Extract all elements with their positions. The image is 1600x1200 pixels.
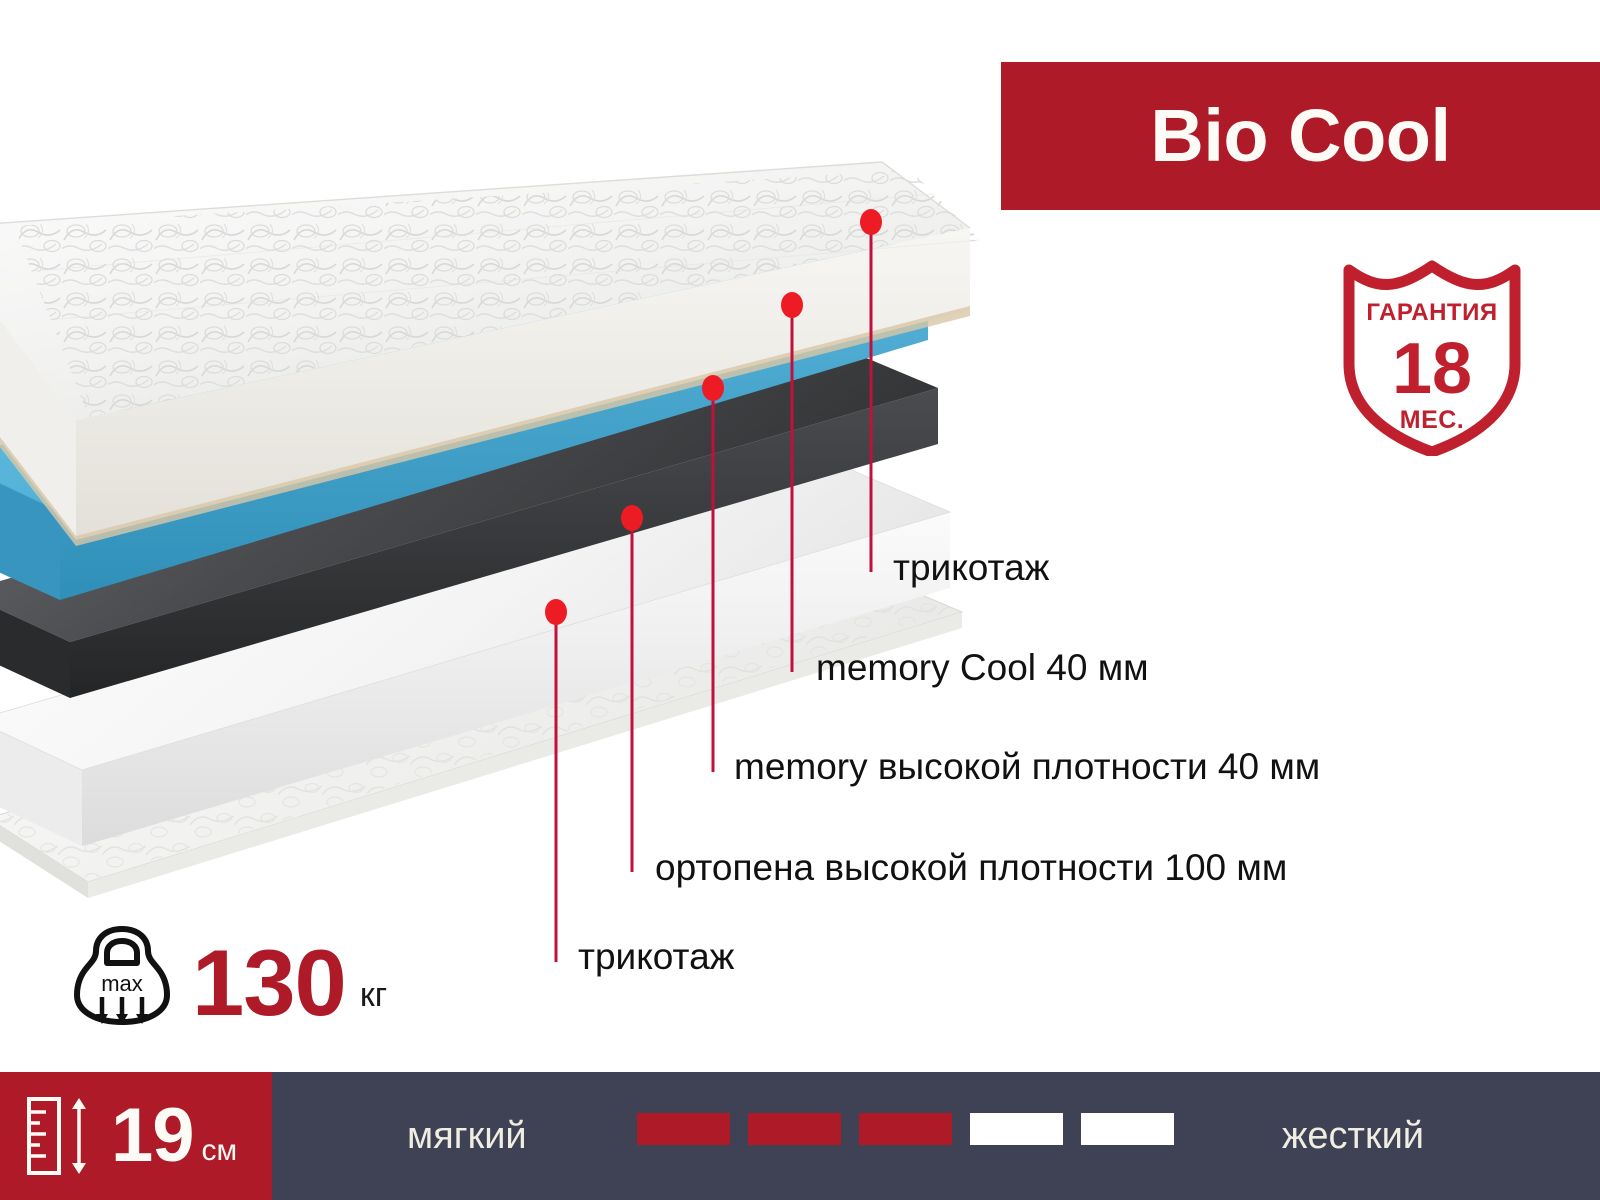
warranty-badge: ГАРАНТИЯ 18 МЕС. [1337, 256, 1527, 456]
bottom-specs-bar: 19 см мягкий жесткий [0, 1072, 1600, 1200]
firmness-segment-5 [1081, 1113, 1174, 1145]
layer-label-ortofoam: ортопена высокой плотности 100 мм [655, 849, 1287, 886]
firmness-hard-label: жесткий [1282, 1117, 1424, 1155]
firmness-segment-4 [970, 1113, 1063, 1145]
brand-banner: Bio Cool [1001, 62, 1600, 210]
firmness-scale [637, 1113, 1174, 1145]
layer-label-memory-cool: memory Cool 40 мм [816, 649, 1149, 686]
warranty-value: 18 [1392, 329, 1472, 409]
firmness-segment-3 [859, 1113, 952, 1145]
brand-name: Bio Cool [1150, 99, 1450, 173]
layer-label-knit-top: трикотаж [893, 549, 1049, 586]
firmness-segment-2 [748, 1113, 841, 1145]
warranty-unit: МЕС. [1400, 406, 1465, 434]
height-value: 19 [111, 1098, 194, 1174]
height-spec-box: 19 см [0, 1072, 272, 1200]
firmness-segment-1 [637, 1113, 730, 1145]
firmness-scale-box: мягкий жесткий [272, 1072, 1600, 1200]
height-unit: см [202, 1136, 238, 1166]
warranty-top-label: ГАРАНТИЯ [1366, 299, 1497, 326]
kettlebell-icon: max [72, 921, 172, 1026]
layer-label-knit-bottom: трикотаж [578, 938, 734, 975]
max-load-value: 130 [192, 940, 346, 1026]
layer-label-memory-dense: memory высокой плотности 40 мм [734, 748, 1320, 785]
ruler-icon [25, 1095, 97, 1177]
max-load-icon-text: max [101, 971, 143, 996]
firmness-soft-label: мягкий [407, 1117, 527, 1155]
max-load-unit: кг [360, 978, 387, 1012]
max-load-block: max 130 кг [72, 918, 387, 1026]
mattress-cutaway-illustration [0, 120, 980, 910]
